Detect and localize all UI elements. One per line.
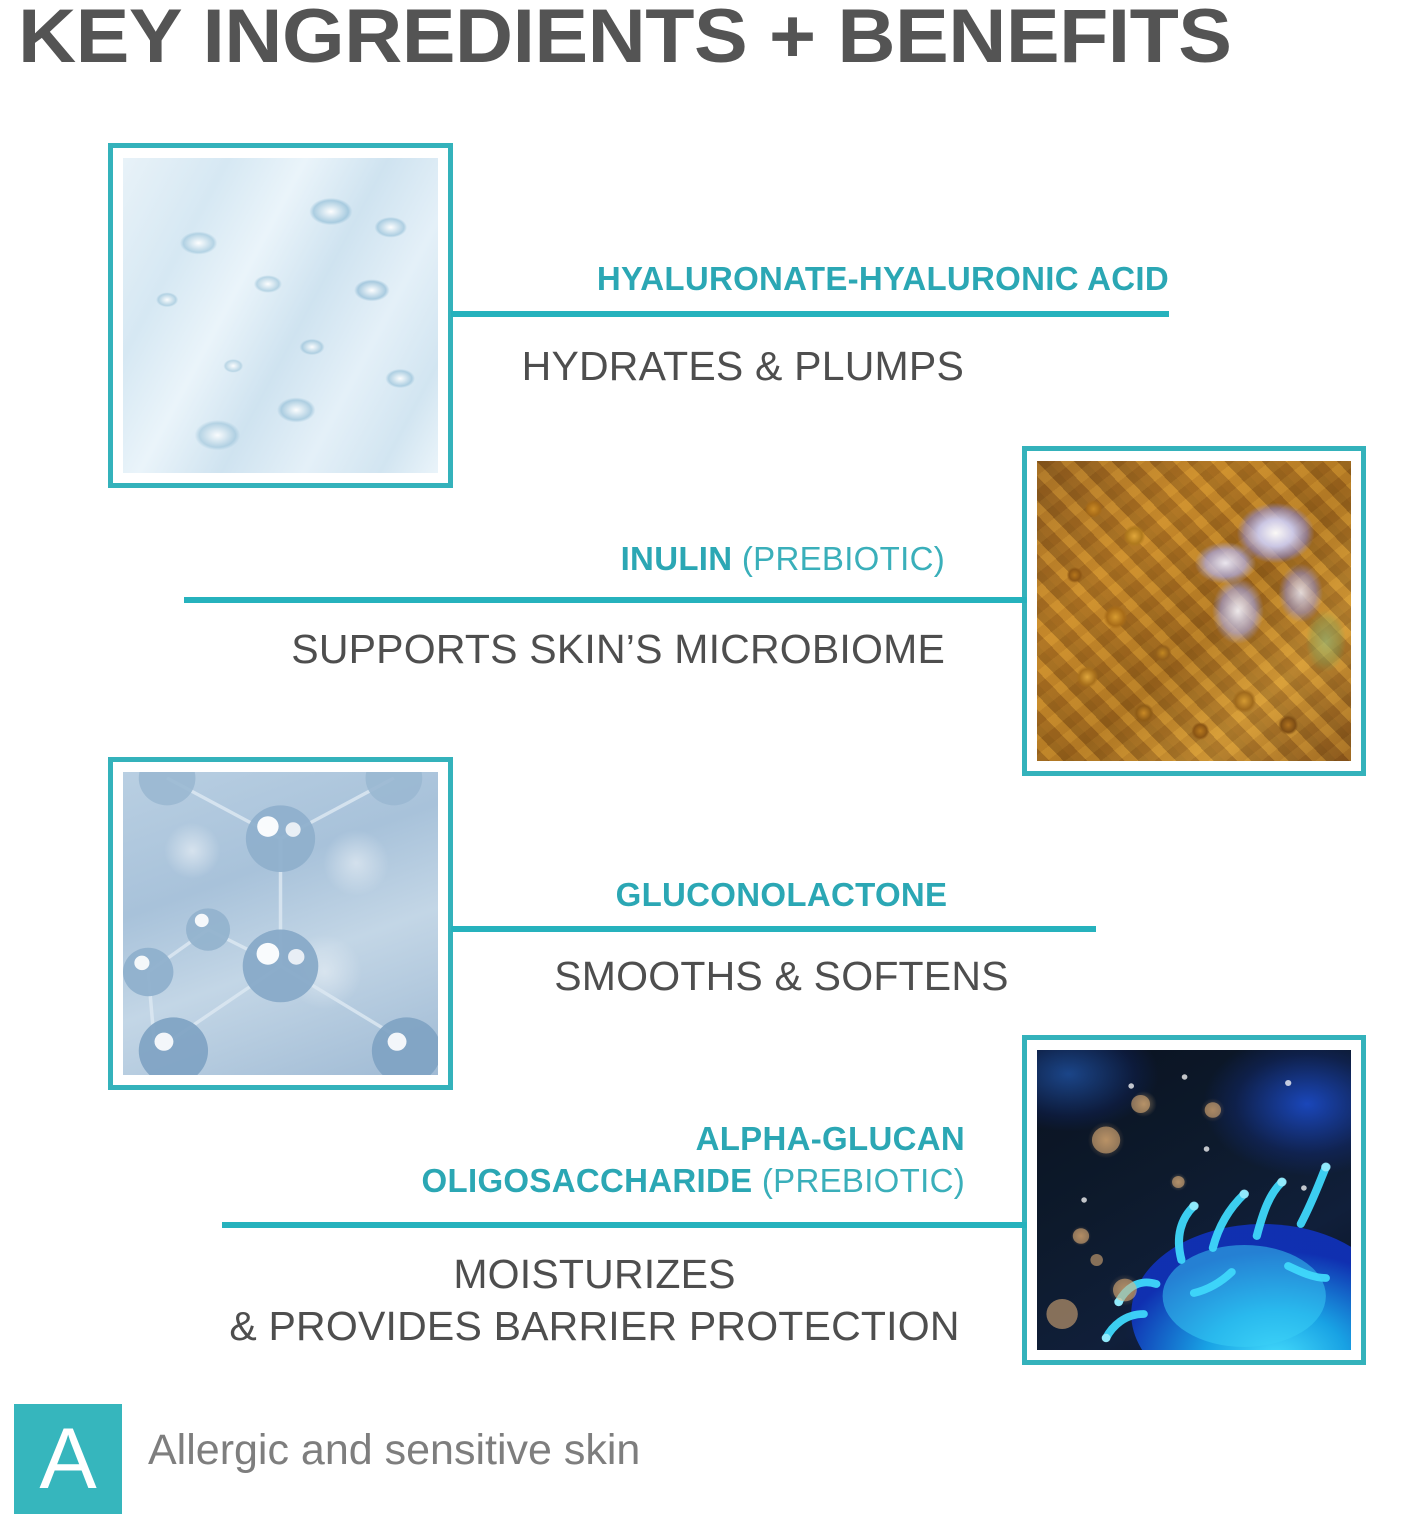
ingredient-text-inulin: INULIN (PREBIOTIC) bbox=[200, 538, 945, 580]
microbiome-photo bbox=[1037, 1050, 1351, 1350]
ingredient-name-gluconolactone: GLUCONOLACTONE bbox=[469, 874, 1094, 916]
benefit-line-alpha-glucan-2: & PROVIDES BARRIER PROTECTION bbox=[222, 1300, 967, 1352]
page-title: KEY INGREDIENTS + BENEFITS bbox=[18, 0, 1427, 80]
ingredient-name-inulin-main: INULIN bbox=[621, 540, 733, 577]
ingredient-image-alpha-glucan bbox=[1022, 1035, 1366, 1365]
connector-rule-2 bbox=[184, 597, 1027, 603]
ingredient-text-alpha-glucan: ALPHA-GLUCAN OLIGOSACCHARIDE (PREBIOTIC) bbox=[240, 1118, 965, 1202]
ingredient-image-hyaluronate bbox=[108, 143, 453, 488]
ingredient-name-alpha-glucan-main: OLIGOSACCHARIDE bbox=[422, 1162, 753, 1199]
connector-rule-1 bbox=[451, 311, 1169, 317]
benefit-text-gluconolactone: SMOOTHS & SOFTENS bbox=[469, 950, 1094, 1002]
ingredient-image-gluconolactone bbox=[108, 757, 453, 1090]
molecule-icon bbox=[123, 772, 438, 1075]
ingredient-image-inulin bbox=[1022, 446, 1366, 776]
ingredient-name-inulin: INULIN (PREBIOTIC) bbox=[200, 538, 945, 580]
ingredient-name-hyaluronate: HYALURONATE-HYALURONIC ACID bbox=[469, 258, 1169, 300]
benefit-line-alpha-glucan-1: MOISTURIZES bbox=[222, 1248, 967, 1300]
benefit-text-hyaluronate: HYDRATES & PLUMPS bbox=[469, 340, 964, 392]
benefit-line-inulin: SUPPORTS SKIN’S MICROBIOME bbox=[200, 623, 945, 675]
connector-rule-3 bbox=[451, 926, 1096, 932]
benefit-text-inulin: SUPPORTS SKIN’S MICROBIOME bbox=[200, 623, 945, 675]
allergy-badge-letter: A bbox=[39, 1416, 96, 1502]
ingredient-name-alpha-glucan-line1: ALPHA-GLUCAN bbox=[240, 1118, 965, 1160]
ingredient-text-gluconolactone: GLUCONOLACTONE bbox=[469, 874, 1094, 916]
bacteria-icon bbox=[1037, 1050, 1351, 1350]
allergy-badge: A bbox=[14, 1404, 122, 1514]
ingredient-qualifier-alpha-glucan: (PREBIOTIC) bbox=[762, 1162, 965, 1199]
footer-caption: Allergic and sensitive skin bbox=[148, 1425, 640, 1475]
ingredient-name-alpha-glucan-line2: OLIGOSACCHARIDE (PREBIOTIC) bbox=[240, 1160, 965, 1202]
ingredient-qualifier-inulin: (PREBIOTIC) bbox=[742, 540, 945, 577]
infographic-page: KEY INGREDIENTS + BENEFITS HYALURONATE-H… bbox=[0, 0, 1427, 1500]
connector-rule-4 bbox=[222, 1222, 1027, 1228]
molecule-lattice-photo bbox=[123, 772, 438, 1075]
ingredient-text-hyaluronate: HYALURONATE-HYALURONIC ACID bbox=[469, 258, 1169, 300]
benefit-line-hyaluronate: HYDRATES & PLUMPS bbox=[469, 340, 964, 392]
gel-bubbles-photo bbox=[123, 158, 438, 473]
benefit-line-gluconolactone: SMOOTHS & SOFTENS bbox=[469, 950, 1094, 1002]
benefit-text-alpha-glucan: MOISTURIZES & PROVIDES BARRIER PROTECTIO… bbox=[222, 1248, 967, 1352]
chicory-root-photo bbox=[1037, 461, 1351, 761]
